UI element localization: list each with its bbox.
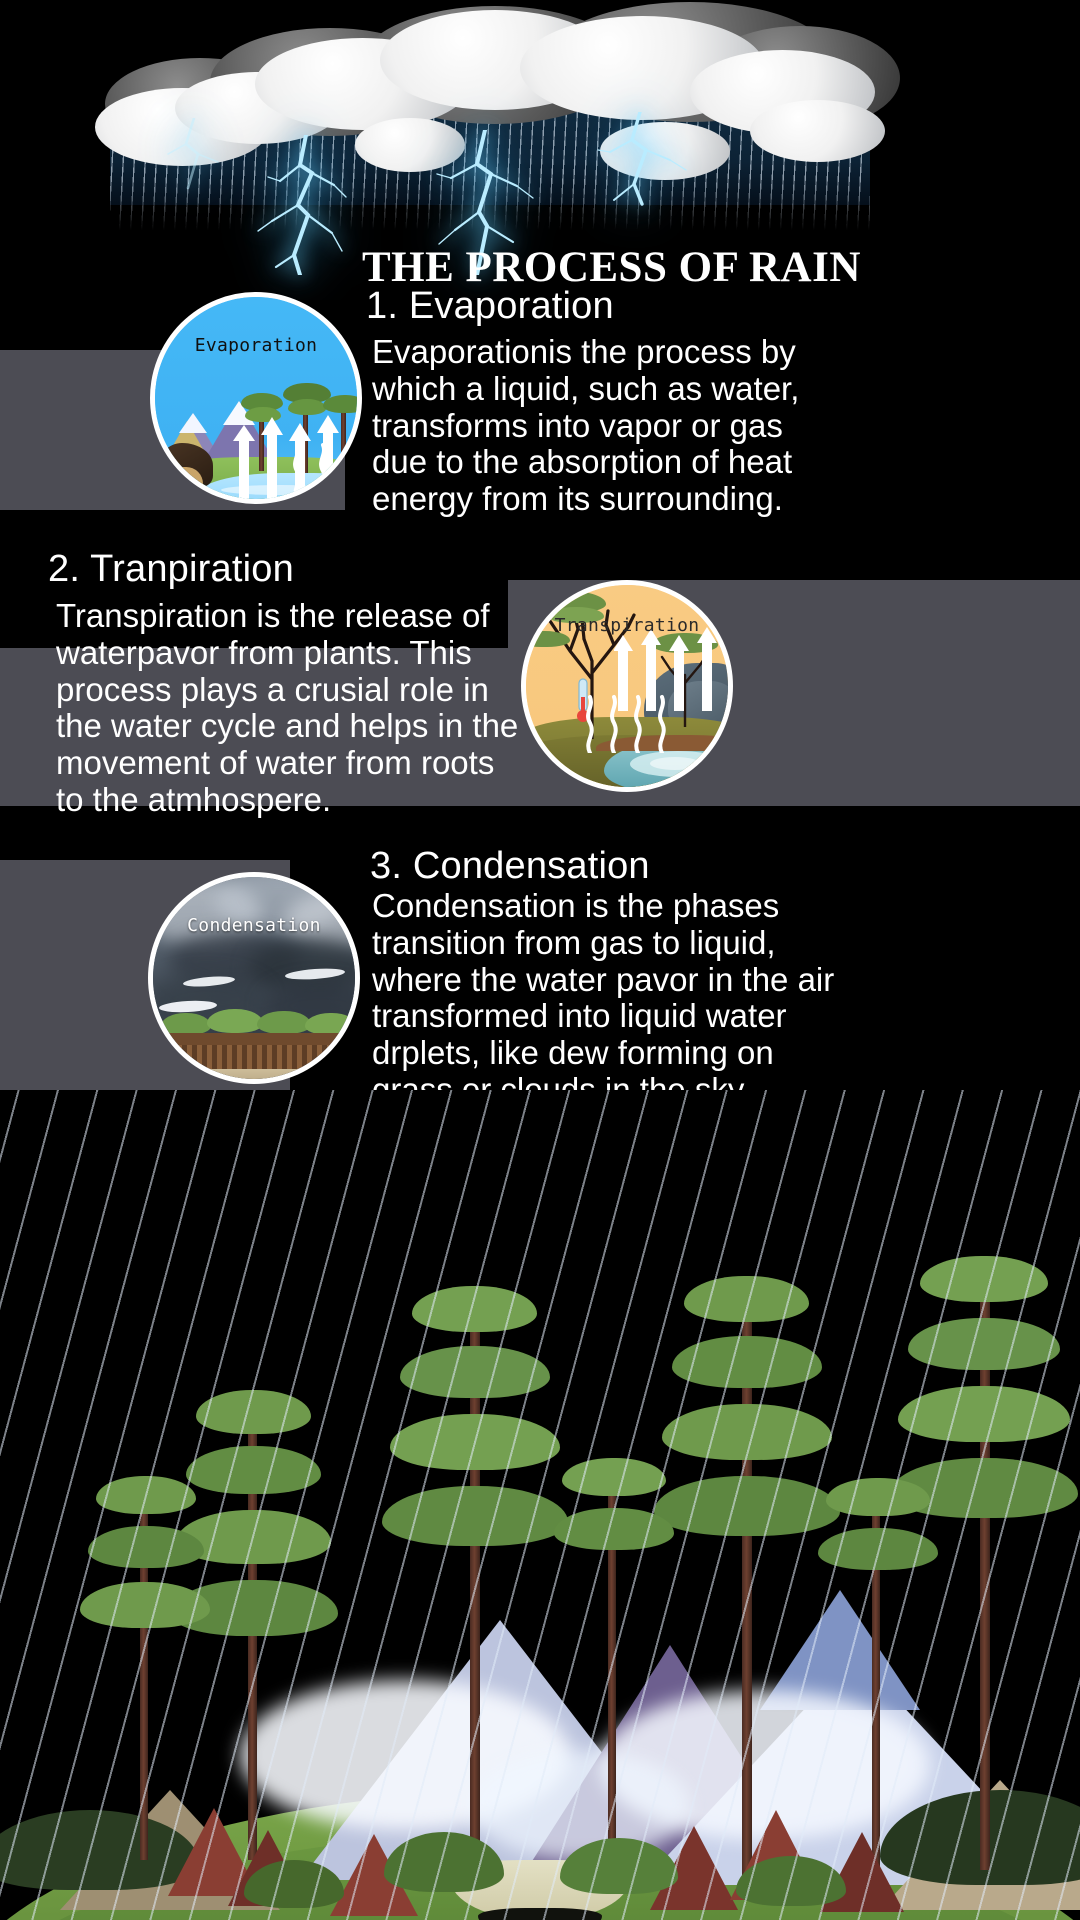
tree-foliage — [382, 1486, 568, 1546]
tree-foliage — [196, 1390, 311, 1434]
band-section-3-upper — [0, 860, 150, 880]
lightning-bolt-far-right — [150, 118, 240, 214]
section-3-heading: 3. Condensation — [370, 845, 650, 888]
section-2-circle-label: Transpiration — [526, 615, 728, 636]
tree-foliage — [390, 1414, 560, 1470]
tree-foliage — [908, 1318, 1060, 1370]
tree-foliage — [257, 1011, 311, 1034]
section-2-heading: 2. Tranpiration — [48, 548, 294, 591]
tree-foliage — [80, 1582, 210, 1628]
section-1-heading: 1. Evaporation — [366, 285, 614, 328]
section-3-illustration: Condensation — [148, 872, 360, 1084]
cloud-white-9 — [750, 100, 885, 162]
lightning-bolt-right — [590, 112, 700, 232]
tree-foliage — [818, 1528, 938, 1570]
mountain-snow — [179, 413, 207, 433]
tree-foliage — [554, 1508, 674, 1550]
section-1-circle-label: Evaporation — [155, 335, 357, 356]
tree-foliage — [400, 1346, 550, 1398]
tree-foliage — [186, 1446, 321, 1494]
tree-foliage — [662, 1404, 832, 1460]
section-1-illustration: Evaporation — [150, 292, 362, 504]
tree-foliage — [672, 1336, 822, 1388]
tree-trunk — [470, 1330, 480, 1870]
footer-forest-scene — [0, 1090, 1080, 1920]
tree-foliage — [412, 1286, 537, 1332]
tree-foliage — [898, 1386, 1070, 1442]
tree-foliage — [161, 1013, 211, 1035]
tree-foliage — [826, 1478, 930, 1516]
section-3-body: Condensation is the phases transition fr… — [372, 888, 840, 1109]
tree-foliage — [920, 1256, 1048, 1302]
vapor-wisps — [239, 437, 349, 501]
vapor-wisps — [584, 693, 692, 753]
section-2-body: Transpiration is the release of waterpav… — [56, 598, 522, 819]
tree-foliage — [684, 1276, 809, 1322]
section-2-illustration: Transpiration — [521, 580, 733, 792]
lightning-bolt-left — [250, 135, 380, 275]
tree-foliage — [207, 1009, 263, 1033]
tree-foliage — [654, 1476, 840, 1536]
tree-foliage — [305, 1013, 357, 1035]
tree-foliage — [88, 1526, 204, 1568]
tree-foliage — [562, 1458, 666, 1496]
section-1-body: Evaporationis the process by which a liq… — [372, 334, 834, 518]
tree-foliage — [96, 1476, 196, 1514]
tree-trunk — [248, 1430, 257, 1860]
section-3-circle-label: Condensation — [153, 915, 355, 936]
